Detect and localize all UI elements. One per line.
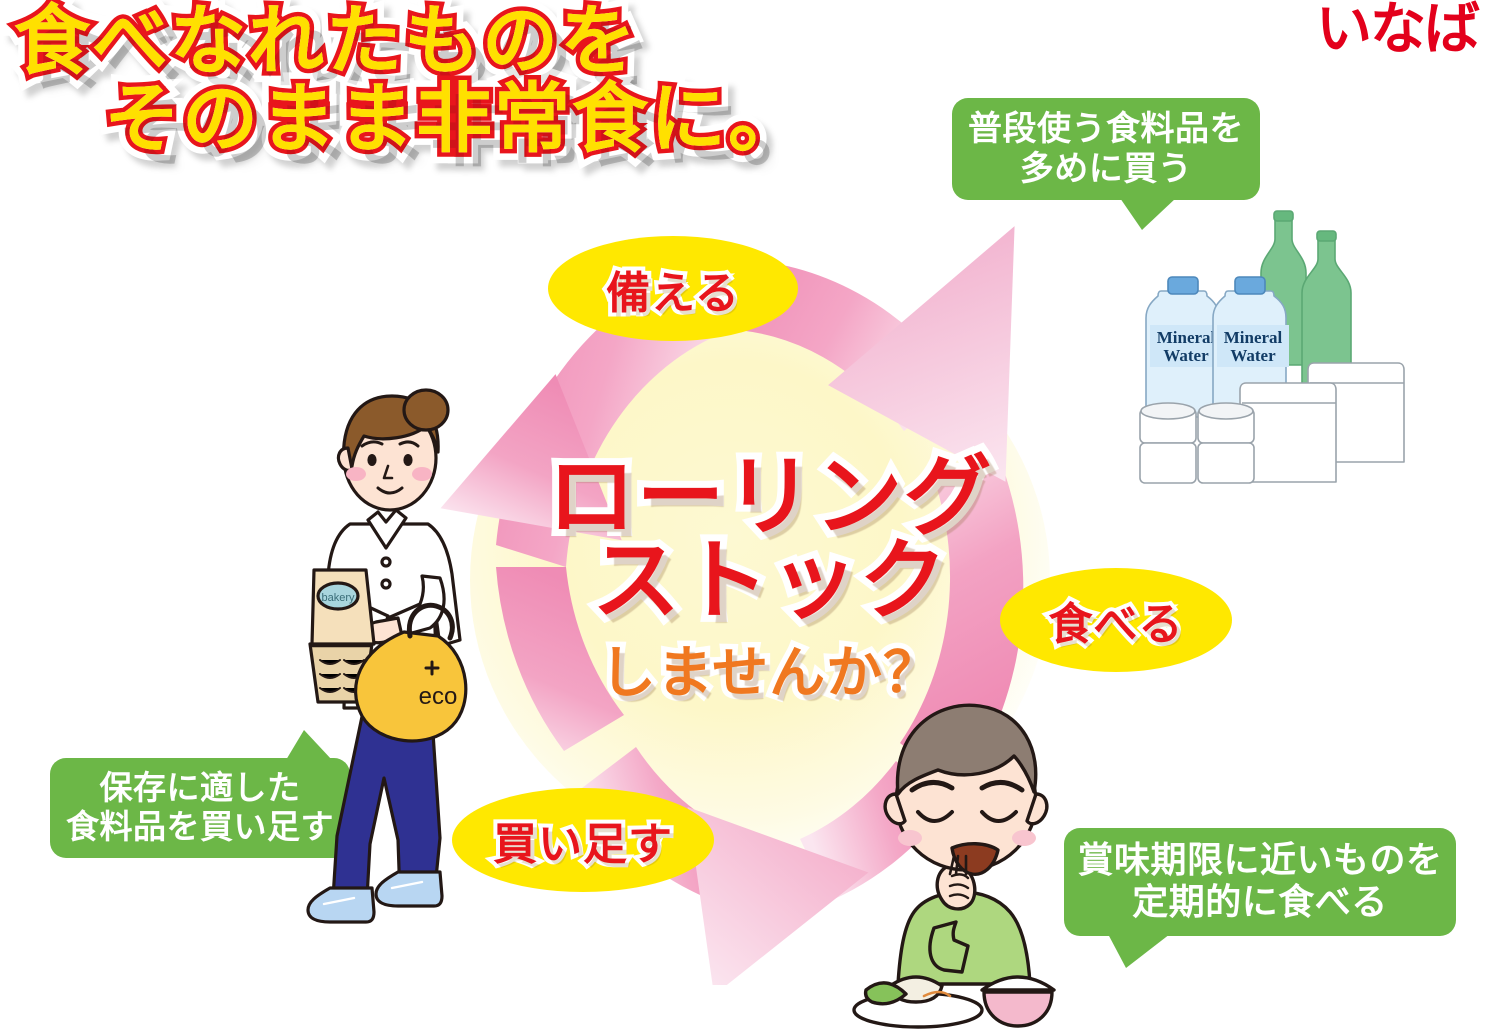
headline-line1: 食べなれたものを <box>14 4 808 78</box>
svg-text:Mineral: Mineral <box>1157 328 1216 347</box>
center-title-line2: ストック <box>520 539 1020 623</box>
callout-bubble-buy-extra-line1: 普段使う食料品を <box>952 109 1260 149</box>
center-message: ローリング ストック しませんか？ <box>520 455 1020 709</box>
mineral-water-bottle-icon: Mineral Water <box>1146 277 1222 417</box>
svg-text:Mineral: Mineral <box>1224 328 1283 347</box>
stockpile-illustration: Mineral Water Mineral Water <box>1128 205 1468 505</box>
inaba-brand-logo: いなば <box>1316 2 1478 58</box>
callout-bubble-buy-extra-line2: 多めに買う <box>952 149 1260 189</box>
cycle-step-sonaeru-label: 備える <box>606 257 740 321</box>
svg-text:Water: Water <box>1230 346 1276 365</box>
cycle-step-sonaeru: 備える <box>548 236 798 341</box>
callout-bubble-buy-extra: 普段使う食料品を 多めに買う <box>952 98 1260 200</box>
stacked-cans-icon <box>1198 403 1254 483</box>
man-eating-illustration <box>848 690 1156 1035</box>
infographic-poster: いなば 食べなれたものを 食べなれたものを そのまま非常食に。 そのまま非常食に… <box>0 0 1500 1035</box>
bakery-label: bakery <box>321 592 355 604</box>
cycle-step-taberu-label: 食べる <box>1049 588 1184 652</box>
headline-line2: そのまま非常食に。 <box>104 82 808 156</box>
svg-text:Water: Water <box>1163 346 1209 365</box>
woman-shopper-illustration: bakery eco <box>290 388 542 950</box>
cycle-step-taberu: 食べる <box>1000 568 1232 672</box>
center-title-line1: ローリング <box>520 455 1020 539</box>
page-title: 食べなれたものを 食べなれたものを そのまま非常食に。 そのまま非常食に。 <box>8 4 808 157</box>
stacked-cans-icon <box>1140 403 1196 483</box>
eco-bag-label: eco <box>419 683 458 710</box>
